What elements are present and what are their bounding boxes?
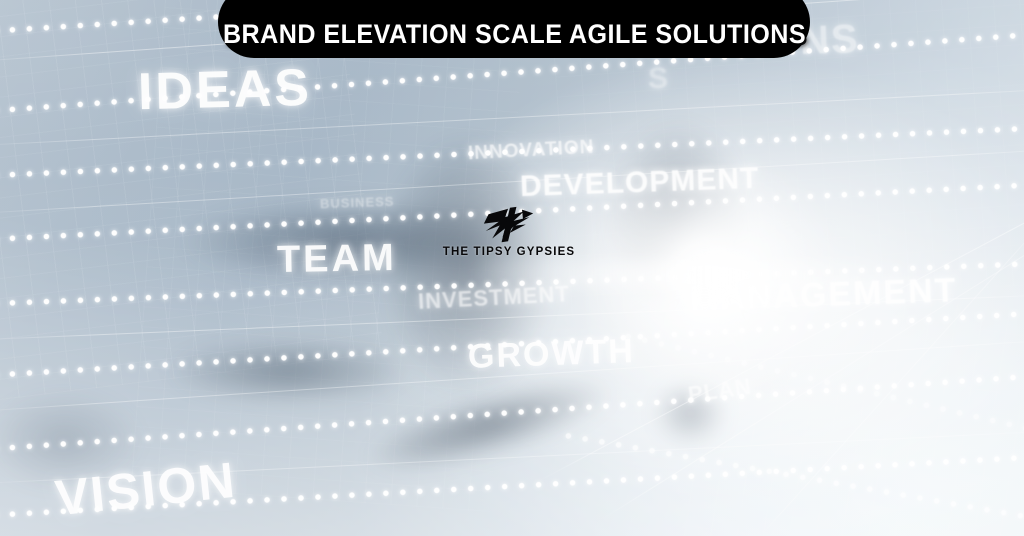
keyword-ideas: IDEAS [137,58,312,123]
keyword-growth: GROWTH [467,332,635,377]
brand-logo: THE TIPSY GYPSIES [447,205,571,267]
lightning-bolt-t-monogram-icon [481,205,537,245]
brand-wordmark: THE TIPSY GYPSIES [443,246,575,258]
promo-banner-image: IDEAS VISION TEAM DEVELOPMENT INNOVATION… [0,0,1024,536]
keyword-partial-s: S [648,62,669,96]
title-banner-pill: BRAND ELEVATION SCALE AGILE SOLUTIONS [218,0,810,58]
keyword-team: TEAM [277,237,397,282]
page-title: BRAND ELEVATION SCALE AGILE SOLUTIONS [222,19,805,50]
keyword-business: BUSINESS [320,194,395,212]
